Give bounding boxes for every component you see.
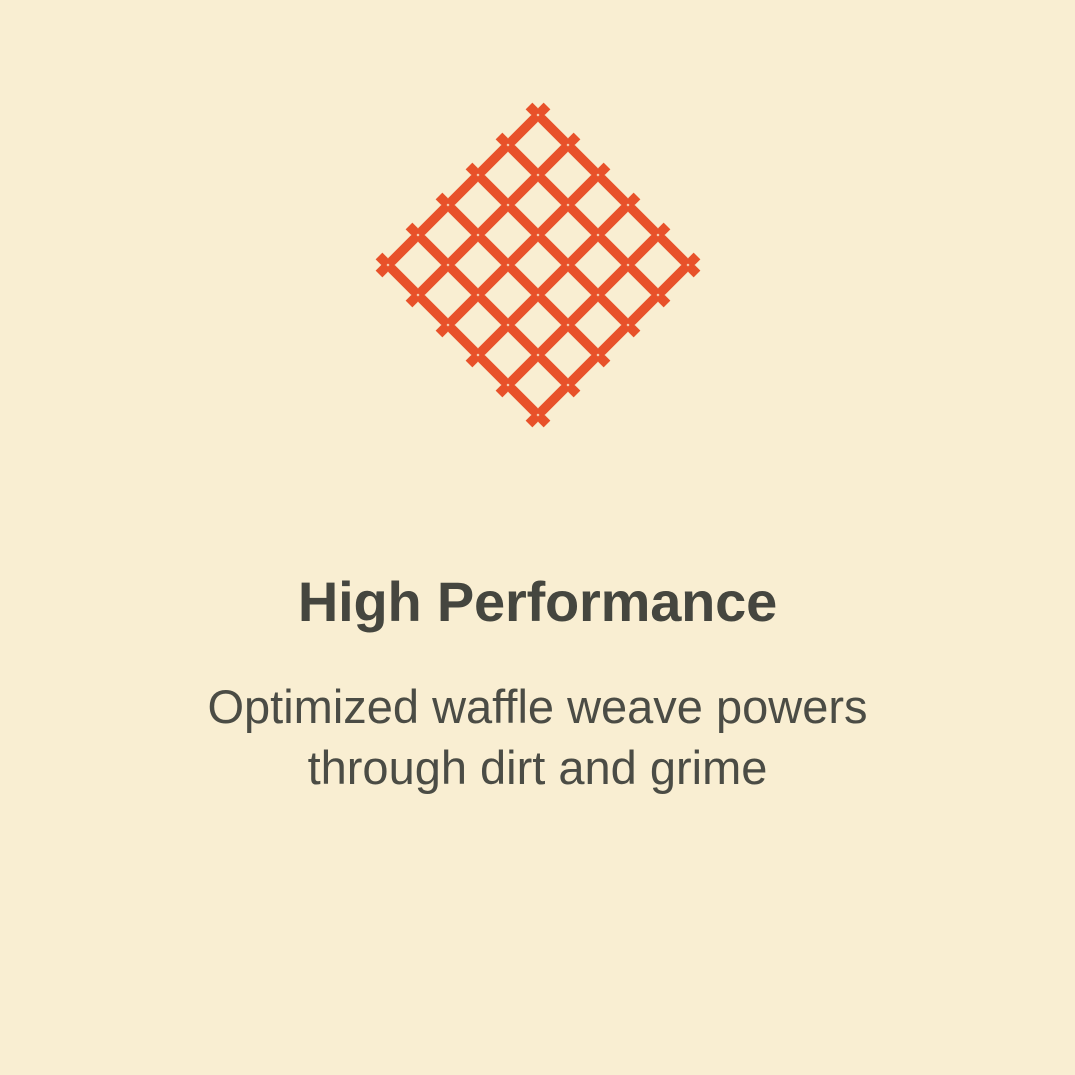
feature-description: Optimized waffle weave powers through di…	[207, 634, 867, 798]
feature-text-container: High Performance Optimized waffle weave …	[0, 540, 1075, 799]
feature-card: High Performance Optimized waffle weave …	[0, 0, 1075, 1075]
feature-icon-container	[0, 0, 1075, 530]
weave-strokes	[362, 89, 714, 441]
feature-title: High Performance	[298, 540, 777, 634]
waffle-weave-icon	[328, 55, 748, 475]
